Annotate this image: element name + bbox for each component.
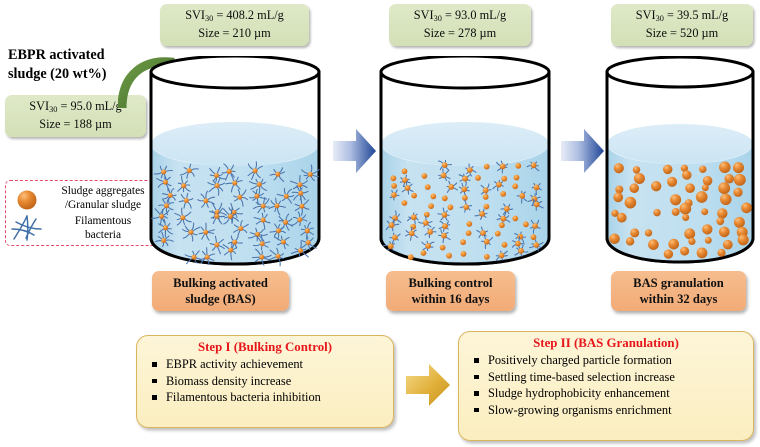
step-2-bullet: Sludge hydrophobicity enhancement bbox=[473, 385, 753, 402]
legend-box: Sludge aggregates /Granular sludge Filam… bbox=[5, 180, 163, 246]
caption-stage-3-line-1: BAS granulation bbox=[617, 275, 740, 291]
step-1-bullet-list: EBPR activity achievement Biomass densit… bbox=[137, 356, 393, 406]
stat-svi-stage-3: SVI30 = 39.5 mL/g bbox=[620, 8, 744, 26]
step-1-title: Step I (Bulking Control) bbox=[137, 340, 393, 355]
reactor-cylinder-stage-3 bbox=[601, 56, 759, 271]
step-2-bullet: Positively charged particle formation bbox=[473, 352, 753, 369]
stat-svi-stage-2: SVI30 = 93.0 mL/g bbox=[398, 8, 522, 26]
stat-size-stage-2: Size = 278 µm bbox=[398, 26, 522, 42]
arrow-stage2-to-stage3-icon bbox=[560, 126, 606, 181]
step-2-bullet-list: Positively charged particle formation Se… bbox=[459, 352, 753, 418]
caption-box-stage-1: Bulking activated sludge (BAS) bbox=[152, 271, 289, 311]
step-2-bullet: Slow-growing organisms enrichment bbox=[473, 402, 753, 419]
reactor-cylinder-stage-1 bbox=[145, 56, 325, 271]
step-2-title: Step II (BAS Granulation) bbox=[459, 336, 753, 351]
stat-size-stage-3: Size = 520 µm bbox=[620, 26, 744, 42]
caption-stage-2-line-1: Bulking control bbox=[392, 275, 509, 291]
step-box-1: Step I (Bulking Control) EBPR activity a… bbox=[136, 335, 394, 428]
granule-sphere-icon bbox=[14, 187, 40, 213]
stat-size-stage-1: Size = 210 µm bbox=[169, 26, 300, 42]
stat-svi-stage-1: SVI30 = 408.2 mL/g bbox=[169, 8, 300, 26]
step-1-bullet: EBPR activity achievement bbox=[151, 356, 393, 373]
caption-stage-1-line-2: sludge (BAS) bbox=[158, 291, 283, 307]
stat-box-stage-1: SVI30 = 408.2 mL/g Size = 210 µm bbox=[160, 4, 309, 46]
step-2-bullet: Settling time-based selection increase bbox=[473, 369, 753, 386]
caption-box-stage-3: BAS granulation within 32 days bbox=[611, 271, 746, 311]
caption-stage-1-line-1: Bulking activated bbox=[158, 275, 283, 291]
arrow-step1-to-step2-icon bbox=[404, 360, 452, 415]
caption-stage-3-line-2: within 32 days bbox=[617, 291, 740, 307]
caption-box-stage-2: Bulking control within 16 days bbox=[386, 271, 515, 311]
stat-box-stage-3: SVI30 = 39.5 mL/g Size = 520 µm bbox=[611, 4, 753, 46]
stat-box-stage-2: SVI30 = 93.0 mL/g Size = 278 µm bbox=[389, 4, 531, 46]
step-1-bullet: Filamentous bacteria inhibition bbox=[151, 389, 393, 406]
caption-stage-2-line-2: within 16 days bbox=[392, 291, 509, 307]
arrow-stage1-to-stage2-icon bbox=[332, 126, 378, 181]
step-box-2: Step II (BAS Granulation) Positively cha… bbox=[458, 331, 754, 441]
step-1-bullet: Biomass density increase bbox=[151, 373, 393, 390]
stat-size-seed: Size = 188 µm bbox=[14, 117, 137, 133]
filament-bacteria-icon bbox=[10, 213, 44, 243]
reactor-cylinder-stage-2 bbox=[375, 56, 555, 271]
